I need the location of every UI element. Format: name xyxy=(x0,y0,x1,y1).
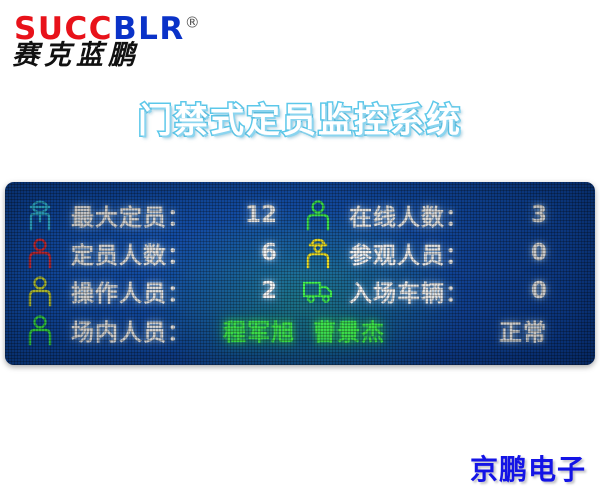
led-row-vehicles: 入场车辆： 0 xyxy=(301,272,581,310)
led-right-column: 在线人数： 3 参观人员： 0 xyxy=(301,196,581,310)
person-icon xyxy=(23,313,57,347)
led-value-staff-count: 6 xyxy=(261,240,277,266)
logo-chinese-name: 赛克蓝鹏 xyxy=(12,42,140,69)
onsite-personnel-names: 程军旭曹景杰 xyxy=(223,313,385,347)
onsite-name: 程军旭 xyxy=(223,320,295,346)
led-label-online-count: 在线人数： xyxy=(349,198,469,232)
footer-brand-label: 京鹏电子 xyxy=(470,448,586,488)
led-row-onsite-personnel: 场内人员： 程军旭曹景杰 正常 xyxy=(23,310,581,350)
status-badge: 正常 xyxy=(499,313,547,347)
led-row-online-count: 在线人数： 3 xyxy=(301,196,581,234)
truck-icon xyxy=(301,274,335,308)
led-left-column: 最大定员： 12 定员人数： 6 xyxy=(23,196,291,310)
led-value-visitors: 0 xyxy=(531,240,547,266)
led-label-vehicles: 入场车辆： xyxy=(349,274,469,308)
led-label-max-capacity: 最大定员： xyxy=(71,198,191,232)
person-icon xyxy=(23,274,57,308)
registered-trademark-icon: ® xyxy=(185,14,200,32)
onsite-name: 曹景杰 xyxy=(313,320,385,346)
person-hat-icon xyxy=(301,236,335,270)
led-label-operators: 操作人员： xyxy=(71,274,191,308)
led-value-vehicles: 0 xyxy=(531,278,547,304)
person-helmet-icon xyxy=(23,198,57,232)
led-row-visitors: 参观人员： 0 xyxy=(301,234,581,272)
page-title: 门禁式定员监控系统 xyxy=(0,93,600,142)
led-value-max-capacity: 12 xyxy=(245,202,277,228)
led-value-online-count: 3 xyxy=(531,202,547,228)
person-icon xyxy=(23,236,57,270)
led-row-operators: 操作人员： 2 xyxy=(23,272,291,310)
led-row-max-capacity: 最大定员： 12 xyxy=(23,196,291,234)
led-display-panel: 最大定员： 12 定员人数： 6 xyxy=(5,182,595,365)
person-icon xyxy=(301,198,335,232)
led-row-staff-count: 定员人数： 6 xyxy=(23,234,291,272)
led-label-staff-count: 定员人数： xyxy=(71,236,191,270)
led-value-operators: 2 xyxy=(261,278,277,304)
company-logo: SUCCBLR® 赛克蓝鹏 xyxy=(8,8,228,74)
led-label-onsite-personnel: 场内人员： xyxy=(71,313,191,347)
led-label-visitors: 参观人员： xyxy=(349,236,469,270)
